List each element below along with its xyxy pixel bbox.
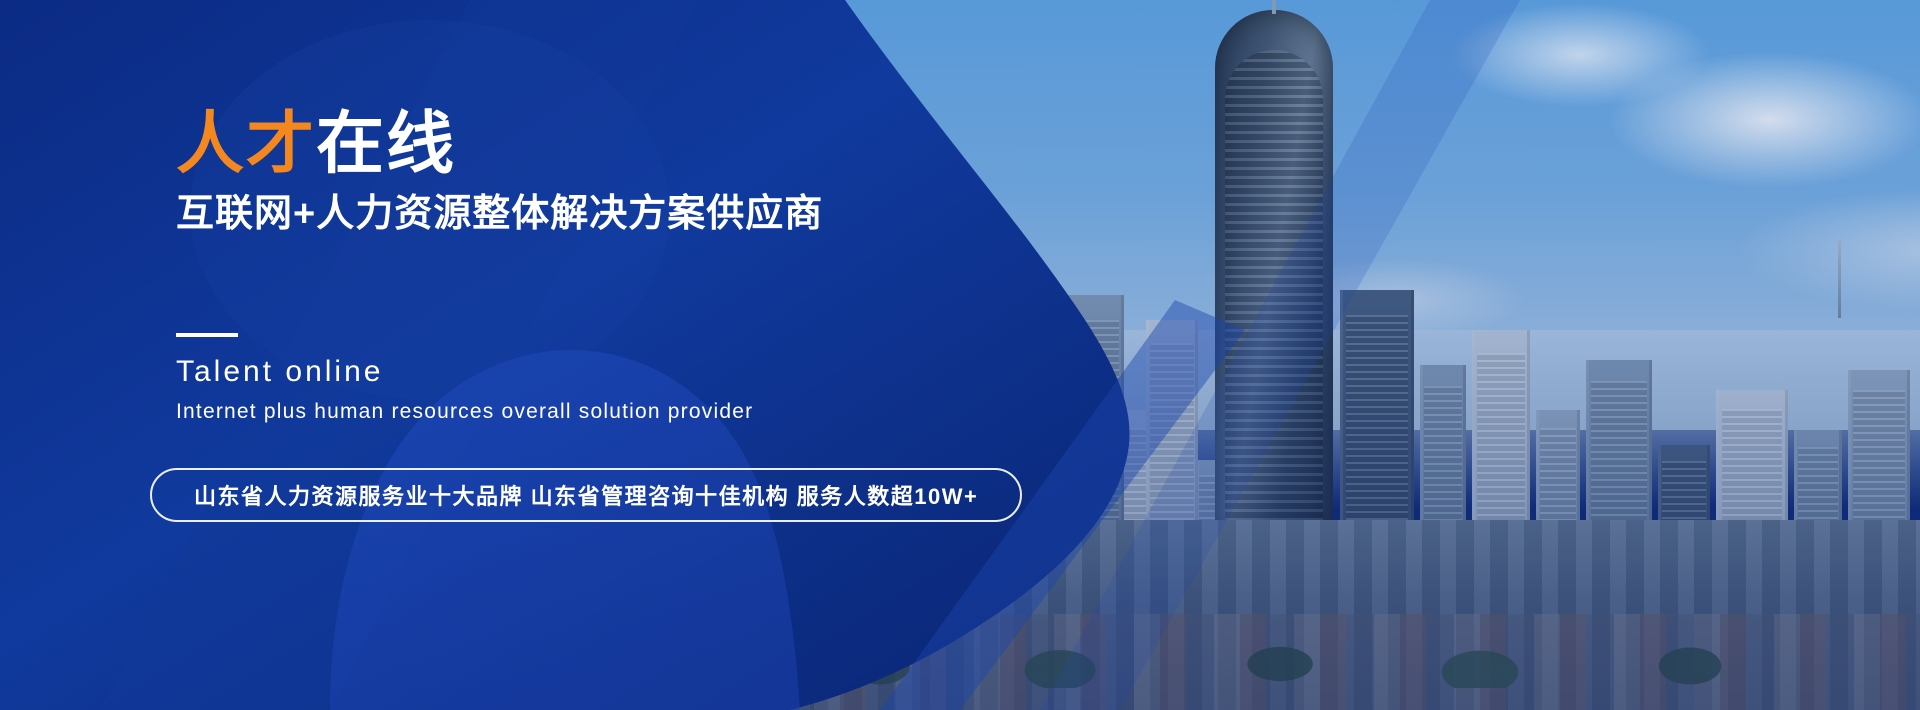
page-subtitle: 互联网+人力资源整体解决方案供应商 <box>176 195 823 233</box>
credentials-badge-text: 山东省人力资源服务业十大品牌 山东省管理咨询十佳机构 服务人数超10W+ <box>194 479 978 511</box>
english-subtitle: Internet plus human resources overall so… <box>176 400 753 424</box>
title-accent-text: 人才 <box>176 106 316 182</box>
page-title: 人才在线 <box>176 110 456 178</box>
english-title: Talent online <box>176 355 383 389</box>
banner-content: 人才在线 互联网+人力资源整体解决方案供应商 Talent online Int… <box>0 0 1100 710</box>
divider <box>176 333 238 337</box>
credentials-badge: 山东省人力资源服务业十大品牌 山东省管理咨询十佳机构 服务人数超10W+ <box>150 468 1022 522</box>
title-plain-text: 在线 <box>316 106 456 182</box>
hero-banner: 人才在线 互联网+人力资源整体解决方案供应商 Talent online Int… <box>0 0 1920 710</box>
photo-diagonal-overlay <box>1040 0 1520 710</box>
